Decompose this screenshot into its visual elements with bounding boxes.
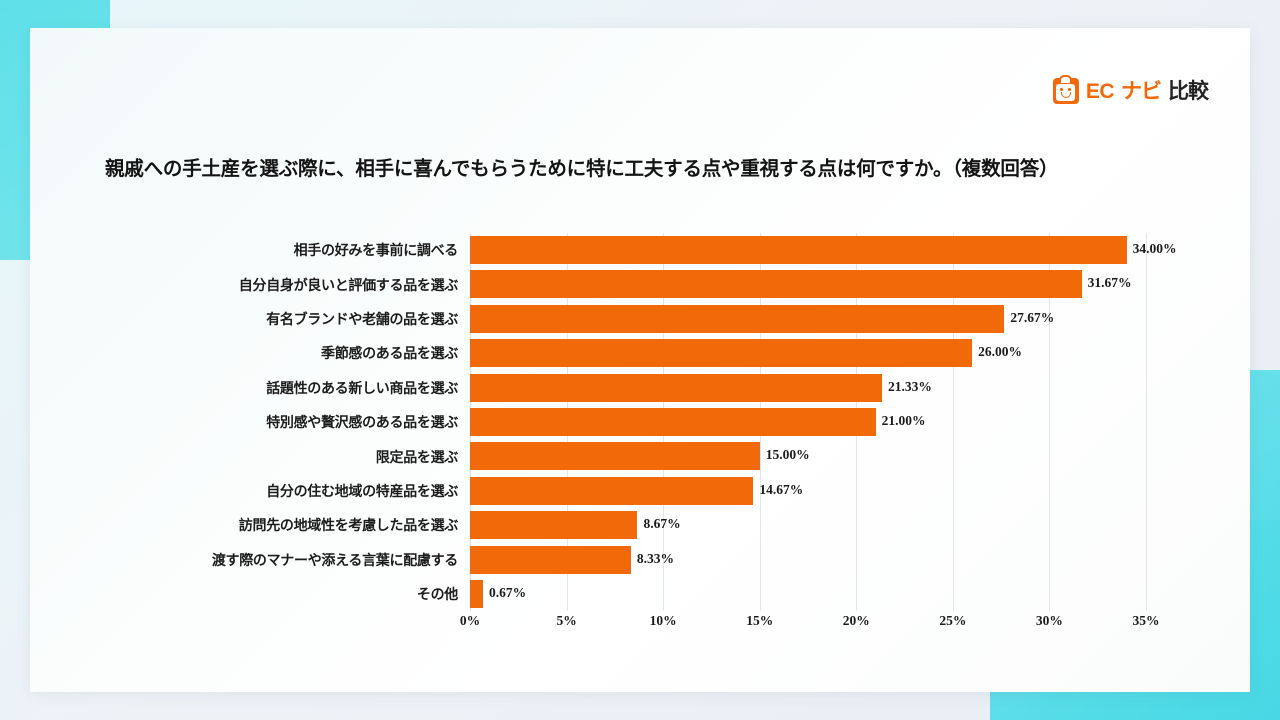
bar: [470, 270, 1082, 298]
category-label: 渡す際のマナーや添える言葉に配慮する: [60, 543, 458, 577]
bar-value-label: 21.00%: [882, 413, 926, 429]
bar: [470, 546, 631, 574]
category-label: 限定品を選ぶ: [60, 439, 458, 473]
logo-text-navi: ナビ: [1121, 81, 1161, 102]
bar-row: 8.67%: [470, 508, 1146, 542]
bar-row: 0.67%: [470, 577, 1146, 611]
bar: [470, 477, 753, 505]
bar-value-label: 8.33%: [637, 551, 674, 567]
category-labels: 相手の好みを事前に調べる自分自身が良いと評価する品を選ぶ有名ブランドや老舗の品を…: [70, 233, 468, 611]
bar-chart: 相手の好みを事前に調べる自分自身が良いと評価する品を選ぶ有名ブランドや老舗の品を…: [70, 233, 1230, 653]
bar-value-label: 14.67%: [759, 482, 803, 498]
bar-value-label: 8.67%: [643, 516, 680, 532]
shopping-bag-smiley-icon: [1053, 78, 1079, 104]
bar-value-label: 0.67%: [489, 585, 526, 601]
bar-row: 21.33%: [470, 371, 1146, 405]
category-label: 季節感のある品を選ぶ: [60, 336, 458, 370]
bar-row: 34.00%: [470, 233, 1146, 267]
bar: [470, 339, 972, 367]
bar-value-label: 27.67%: [1010, 310, 1054, 326]
category-label: 有名ブランドや老舗の品を選ぶ: [60, 302, 458, 336]
x-tick-label: 15%: [746, 613, 773, 629]
x-tick-label: 30%: [1036, 613, 1063, 629]
bar-row: 8.33%: [470, 543, 1146, 577]
gridline-35: [1146, 233, 1147, 611]
category-label: 自分自身が良いと評価する品を選ぶ: [60, 267, 458, 301]
bar-row: 27.67%: [470, 302, 1146, 336]
bar: [470, 511, 637, 539]
bar-row: 26.00%: [470, 336, 1146, 370]
category-label: 相手の好みを事前に調べる: [60, 233, 458, 267]
bar: [470, 305, 1004, 333]
bar: [470, 408, 876, 436]
bar-value-label: 31.67%: [1088, 275, 1132, 291]
x-tick-label: 20%: [843, 613, 870, 629]
bar-value-label: 34.00%: [1133, 241, 1177, 257]
bar-value-label: 21.33%: [888, 379, 932, 395]
bar: [470, 374, 882, 402]
bar: [470, 442, 760, 470]
brand-logo: ECナビ比較: [1053, 74, 1208, 108]
bar-row: 31.67%: [470, 267, 1146, 301]
chart-title: 親戚への手土産を選ぶ際に、相手に喜んでもらうために特に工夫する点や重視する点は何…: [105, 152, 1225, 181]
x-tick-label: 5%: [556, 613, 576, 629]
bar-value-label: 26.00%: [978, 344, 1022, 360]
category-label: 自分の住む地域の特産品を選ぶ: [60, 474, 458, 508]
x-tick-label: 25%: [939, 613, 966, 629]
category-label: 訪問先の地域性を考慮した品を選ぶ: [60, 508, 458, 542]
bar: [470, 580, 483, 608]
bar-value-label: 15.00%: [766, 447, 810, 463]
bar-row: 14.67%: [470, 474, 1146, 508]
logo-text-ec: EC: [1086, 81, 1114, 102]
x-tick-label: 10%: [650, 613, 677, 629]
bar-row: 15.00%: [470, 439, 1146, 473]
plot-area: 34.00%31.67%27.67%26.00%21.33%21.00%15.0…: [470, 233, 1146, 611]
x-axis-ticks: 0%5%10%15%20%25%30%35%: [470, 613, 1146, 639]
category-label: 特別感や贅沢感のある品を選ぶ: [60, 405, 458, 439]
x-tick-label: 35%: [1133, 613, 1160, 629]
page-root: ECナビ比較 親戚への手土産を選ぶ際に、相手に喜んでもらうために特に工夫する点や…: [0, 0, 1280, 720]
bar-row: 21.00%: [470, 405, 1146, 439]
logo-text-hikaku: 比較: [1168, 81, 1208, 102]
content-card: ECナビ比較 親戚への手土産を選ぶ際に、相手に喜んでもらうために特に工夫する点や…: [30, 28, 1250, 692]
bar: [470, 236, 1127, 264]
category-label: その他: [60, 577, 458, 611]
category-label: 話題性のある新しい商品を選ぶ: [60, 371, 458, 405]
x-tick-label: 0%: [460, 613, 480, 629]
